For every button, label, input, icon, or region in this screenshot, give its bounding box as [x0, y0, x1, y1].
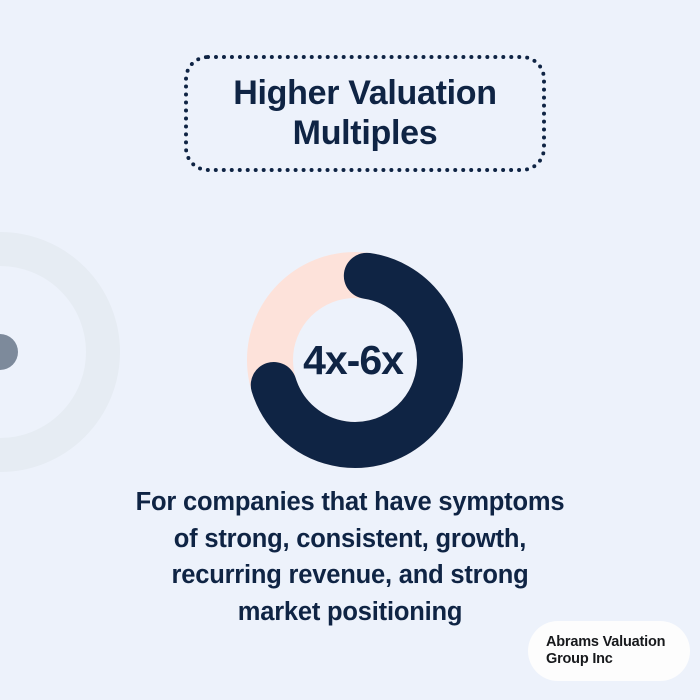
infographic-canvas: Higher Valuation Multiples 4x-6x For com…	[0, 0, 700, 700]
decorative-ring-graphic	[0, 232, 120, 472]
caption-text: For companies that have symptoms of stro…	[60, 484, 640, 631]
page-title: Higher Valuation Multiples	[219, 74, 510, 153]
page-title-line-2: Multiples	[293, 114, 438, 152]
donut-chart-svg	[247, 252, 463, 468]
brand-logo-line-2: Group Inc	[546, 651, 613, 668]
donut-chart: 4x-6x	[247, 252, 463, 468]
decorative-dot-graphic	[0, 334, 18, 370]
caption-line-1: For companies that have symptoms	[60, 484, 640, 521]
brand-logo-badge: Abrams Valuation Group Inc	[528, 621, 690, 681]
brand-logo-line-1: Abrams Valuation	[546, 634, 665, 651]
title-badge: Higher Valuation Multiples	[184, 55, 546, 172]
caption-line-2: of strong, consistent, growth,	[60, 521, 640, 558]
caption-line-3: recurring revenue, and strong	[60, 557, 640, 594]
page-title-line-1: Higher Valuation	[233, 74, 496, 112]
